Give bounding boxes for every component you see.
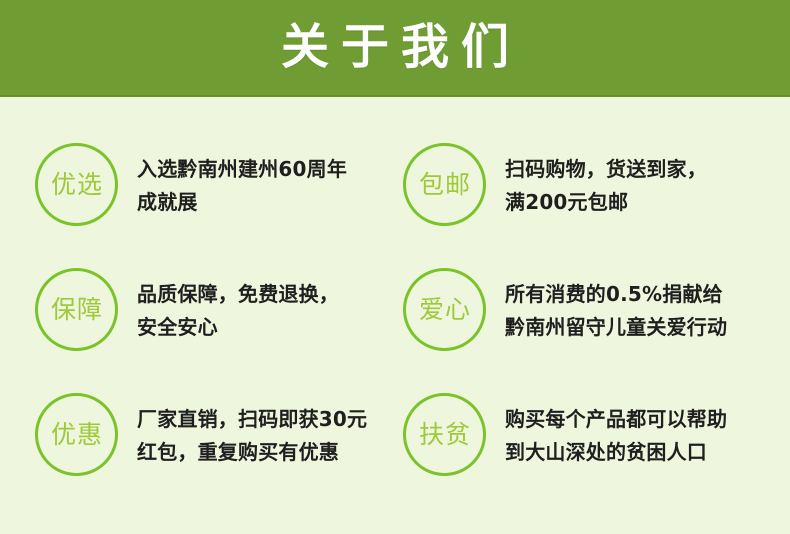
page-header-banner: 关于我们	[0, 0, 790, 97]
feature-text-aixin: 所有消费的0.5%捐献给 黔南州留守儿童关爱行动	[505, 278, 790, 344]
badge-circle-baozhang: 保障	[35, 268, 118, 351]
badge-label: 保障	[50, 297, 103, 322]
feature-text-line: 成就展	[137, 186, 395, 219]
about-us-page: 关于我们 优选 入选黔南州建州60周年 成就展 包邮 扫码购物，货送到家， 满2…	[0, 0, 790, 534]
feature-text-line: 所有消费的0.5%捐献给	[505, 278, 790, 311]
badge-label: 扶贫	[418, 422, 471, 447]
feature-text-baoyou: 扫码购物，货送到家， 满200元包邮	[505, 153, 790, 219]
feature-text-line: 购买每个产品都可以帮助	[505, 403, 790, 436]
feature-item-youxuan: 优选 入选黔南州建州60周年 成就展	[0, 135, 395, 260]
badge-label: 优惠	[50, 422, 103, 447]
page-title: 关于我们	[269, 23, 521, 71]
feature-item-baoyou: 包邮 扫码购物，货送到家， 满200元包邮	[395, 135, 790, 260]
feature-grid: 优选 入选黔南州建州60周年 成就展 包邮 扫码购物，货送到家， 满200元包邮…	[0, 99, 790, 534]
feature-text-fupin: 购买每个产品都可以帮助 到大山深处的贫困人口	[505, 403, 790, 469]
feature-text-line: 入选黔南州建州60周年	[137, 153, 395, 186]
badge-circle-youxuan: 优选	[35, 143, 118, 226]
feature-item-aixin: 爱心 所有消费的0.5%捐献给 黔南州留守儿童关爱行动	[395, 260, 790, 385]
feature-item-baozhang: 保障 品质保障，免费退换， 安全安心	[0, 260, 395, 385]
feature-text-baozhang: 品质保障，免费退换， 安全安心	[137, 278, 395, 344]
badge-label: 优选	[50, 172, 103, 197]
feature-text-line: 黔南州留守儿童关爱行动	[505, 311, 790, 344]
badge-label: 爱心	[418, 297, 471, 322]
badge-circle-aixin: 爱心	[403, 268, 486, 351]
badge-circle-fupin: 扶贫	[403, 393, 486, 476]
feature-text-youhui: 厂家直销，扫码即获30元 红包，重复购买有优惠	[137, 403, 395, 469]
feature-text-line: 厂家直销，扫码即获30元	[137, 403, 395, 436]
badge-circle-youhui: 优惠	[35, 393, 118, 476]
badge-circle-baoyou: 包邮	[403, 143, 486, 226]
feature-text-line: 到大山深处的贫困人口	[505, 436, 790, 469]
feature-text-line: 扫码购物，货送到家，	[505, 153, 790, 186]
badge-label: 包邮	[418, 172, 471, 197]
feature-text-youxuan: 入选黔南州建州60周年 成就展	[137, 153, 395, 219]
feature-text-line: 安全安心	[137, 311, 395, 344]
feature-text-line: 满200元包邮	[505, 186, 790, 219]
feature-text-line: 红包，重复购买有优惠	[137, 436, 395, 469]
feature-item-youhui: 优惠 厂家直销，扫码即获30元 红包，重复购买有优惠	[0, 385, 395, 510]
feature-item-fupin: 扶贫 购买每个产品都可以帮助 到大山深处的贫困人口	[395, 385, 790, 510]
feature-text-line: 品质保障，免费退换，	[137, 278, 395, 311]
